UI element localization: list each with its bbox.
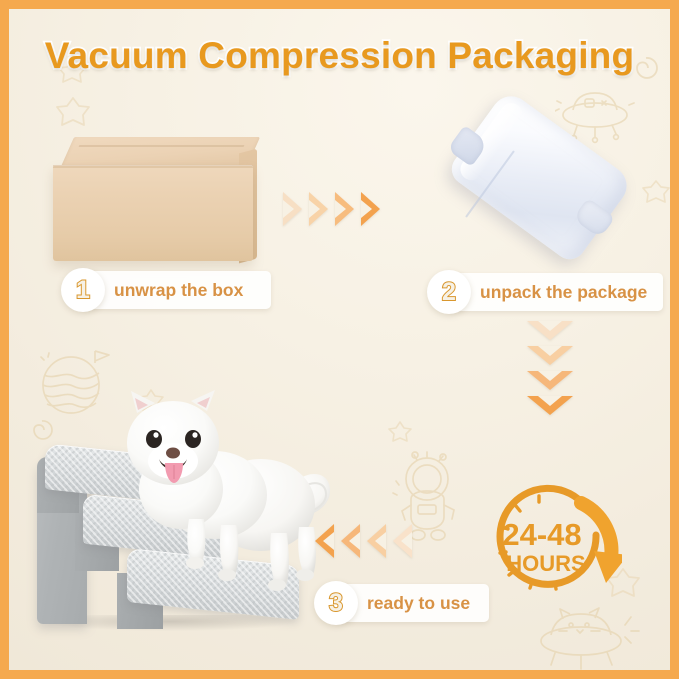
step-2-text: unpack the package	[480, 282, 661, 303]
chevron-left-icon	[367, 524, 386, 558]
cat-ufo-doodle	[533, 597, 643, 679]
chevron-left-icon	[341, 524, 360, 558]
chevron-right-icon	[335, 192, 354, 226]
sealed-roll-body	[446, 88, 635, 265]
step-1-text: unwrap the box	[114, 280, 257, 301]
step-1-number-badge: 1	[61, 268, 105, 312]
chevron-left-icon	[315, 524, 334, 558]
waiting-time-badge: 24-48 HOURS	[482, 483, 622, 601]
box-front-face	[53, 165, 253, 261]
arrows-down-group	[527, 321, 573, 415]
arrows-left-group	[315, 524, 412, 558]
chevron-right-icon	[309, 192, 328, 226]
chevron-down-icon	[527, 371, 573, 390]
chevron-left-icon	[393, 524, 412, 558]
star-doodle	[387, 419, 413, 445]
page-title: Vacuum Compression Packaging	[9, 35, 670, 77]
cardboard-box-illustration	[53, 137, 259, 262]
chevron-down-icon	[527, 346, 573, 365]
step-2-label: 2 unpack the package	[427, 273, 661, 311]
vacuum-sealed-roll-illustration	[445, 113, 635, 263]
step-3-label: 3 ready to use	[314, 584, 484, 622]
pet-stairs-illustration	[17, 397, 317, 632]
chevron-down-icon	[527, 321, 573, 340]
chevron-down-icon	[527, 396, 573, 415]
arrows-right-group	[283, 192, 380, 226]
timer-duration: 24-48	[502, 517, 581, 552]
chevron-right-icon	[361, 192, 380, 226]
step-1-label: 1 unwrap the box	[61, 271, 257, 309]
chevron-right-icon	[283, 192, 302, 226]
box-tape-seam	[79, 145, 245, 147]
clock-arrow-head	[594, 551, 622, 583]
step-3-number-badge: 3	[314, 581, 358, 625]
timer-unit: HOURS	[506, 551, 585, 576]
star-doodle	[641, 177, 671, 207]
infographic-poster: Vacuum Compression Packaging	[0, 0, 679, 679]
pomeranian-dog-illustration	[103, 387, 333, 602]
step-3-text: ready to use	[367, 593, 484, 614]
star-doodle	[53, 93, 93, 133]
step-2-number-badge: 2	[427, 270, 471, 314]
